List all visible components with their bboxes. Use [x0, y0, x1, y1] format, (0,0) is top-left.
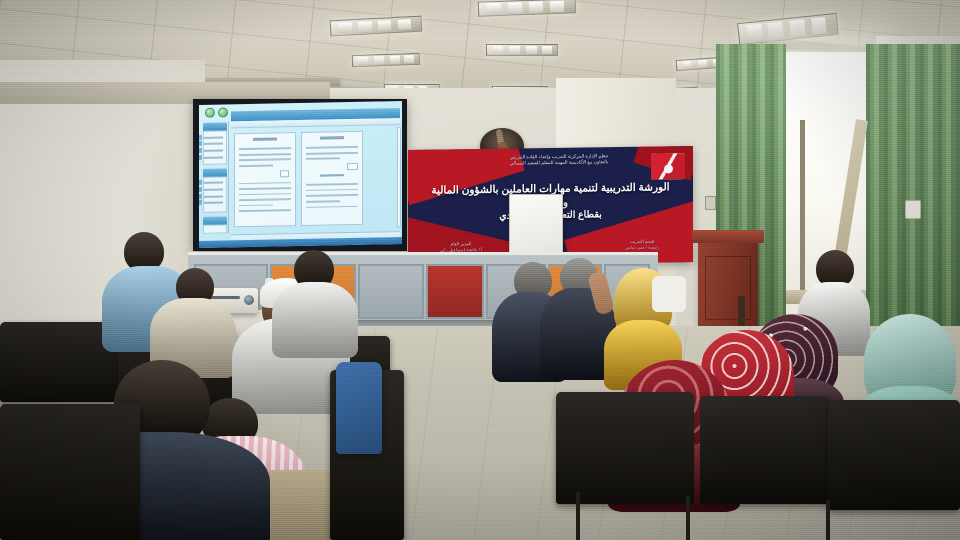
- curtain-right: [866, 44, 960, 354]
- light-switch-plate[interactable]: [905, 200, 921, 219]
- counter-panel-2: [358, 264, 424, 319]
- chair-leg-3: [826, 500, 830, 540]
- chair-leg-2: [686, 496, 690, 540]
- conference-room-photo: تنظم الإدارة المركزية للتدريب وإعداد الق…: [0, 0, 960, 540]
- chair-leg-1: [576, 492, 580, 540]
- podium-top: [692, 230, 764, 243]
- ceiling-light-4: [352, 53, 420, 67]
- chair-front-far-right[interactable]: [828, 400, 960, 510]
- os-taskbar[interactable]: [199, 237, 402, 248]
- app-orb-1-icon: [205, 107, 215, 117]
- banner-organizer-line-2: بالتعاون مع الأكاديمية المهنية للمعلم لل…: [471, 159, 647, 168]
- document-pane-right: [301, 130, 364, 226]
- app-orb-2-icon: [218, 107, 228, 117]
- blue-bag[interactable]: [336, 362, 382, 454]
- sidebar-group-body-3: [203, 224, 227, 233]
- banner-organizer-text: تنظم الإدارة المركزية للتدريب وإعداد الق…: [471, 153, 647, 168]
- white-garment: [652, 276, 686, 312]
- chair-foreground-left[interactable]: [0, 404, 140, 540]
- projected-desktop: [199, 101, 402, 248]
- banner-signature-right: قسم التدريب رئيسة / منى عباس: [603, 238, 681, 251]
- ministry-emblem-icon: [651, 153, 685, 179]
- attendee-man-white-shirt-front-row: [272, 250, 358, 350]
- chair-front-center[interactable]: [556, 392, 694, 504]
- torso: [272, 282, 358, 358]
- chair-front-right[interactable]: [700, 396, 830, 504]
- document-pane-left: [234, 132, 297, 228]
- counter-panel-red: [426, 264, 484, 319]
- wall-socket-plate[interactable]: [705, 196, 716, 210]
- projection-screen: [193, 99, 407, 251]
- ceiling-light-5: [486, 44, 558, 56]
- banner-sig-right-name: رئيسة / منى عباس: [603, 244, 681, 251]
- app-sidebar: [201, 122, 229, 234]
- app-scrollbar[interactable]: [397, 127, 401, 227]
